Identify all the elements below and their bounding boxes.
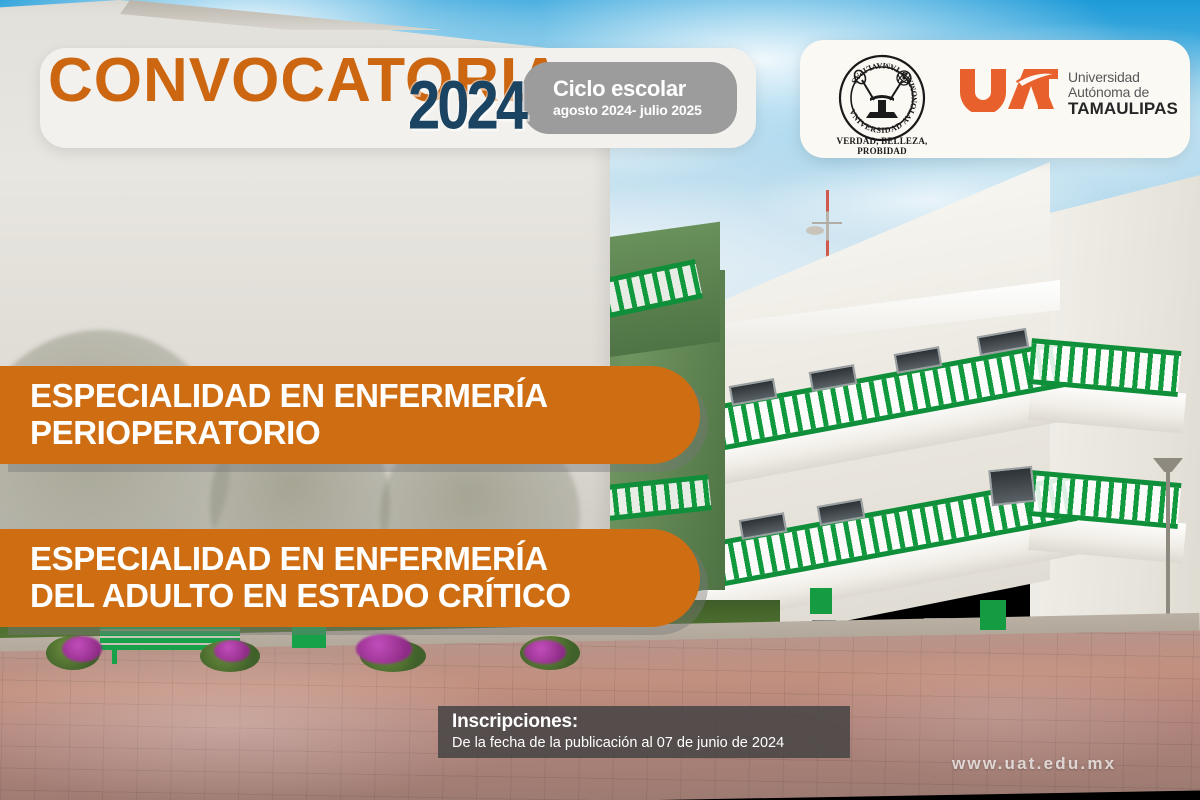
program-title-line2: PERIOPERATORIO	[30, 415, 700, 452]
bench-leg	[112, 648, 117, 664]
school-cycle-range: agosto 2024- julio 2025	[553, 102, 737, 119]
university-name-block: Universidad Autónoma de TAMAULIPAS	[1068, 70, 1178, 119]
seal-motto-text: VERDAD, BELLEZA, PROBIDAD	[812, 136, 952, 156]
bougainvillea-flowers	[62, 636, 102, 662]
main-building	[700, 150, 1200, 670]
program-title-line1: ESPECIALIDAD EN ENFERMERÍA	[30, 541, 700, 578]
program-title-line1: ESPECIALIDAD EN ENFERMERÍA	[30, 378, 700, 415]
program-banner-perioperatorio: ESPECIALIDAD EN ENFERMERÍA PERIOPERATORI…	[0, 366, 700, 464]
enrollment-label: Inscripciones:	[452, 712, 850, 733]
bougainvillea-flowers	[524, 640, 566, 664]
window	[988, 466, 1036, 506]
program-title-line2: DEL ADULTO EN ESTADO CRÍTICO	[30, 578, 700, 615]
convocatoria-poster: CONVOCATORIA Ciclo escolar agosto 2024- …	[0, 0, 1200, 800]
university-name-line1: Universidad	[1068, 70, 1178, 85]
year-badge: 2024	[408, 72, 525, 140]
school-cycle-label: Ciclo escolar	[553, 77, 737, 100]
green-trash-bin	[980, 600, 1006, 630]
uat-logo-icon	[958, 66, 1058, 112]
university-name-line3: TAMAULIPAS	[1068, 100, 1178, 118]
green-trash-bin	[810, 588, 832, 614]
program-banner-estado-critico: ESPECIALIDAD EN ENFERMERÍA DEL ADULTO EN…	[0, 529, 700, 627]
website-url: www.uat.edu.mx	[952, 754, 1116, 774]
bougainvillea-flowers	[214, 640, 250, 662]
enrollment-info-box: Inscripciones: De la fecha de la publica…	[438, 706, 850, 758]
university-seal-icon: VNIVERSIDAD AVTONOMA D TAMAVLIPAS	[822, 48, 942, 150]
bench-backrest	[292, 626, 326, 648]
school-cycle-pill: Ciclo escolar agosto 2024- julio 2025	[523, 62, 737, 134]
university-name-line2: Autónoma de	[1068, 85, 1178, 100]
bougainvillea-flowers	[356, 634, 412, 664]
enrollment-dates: De la fecha de la publicación al 07 de j…	[452, 734, 850, 753]
